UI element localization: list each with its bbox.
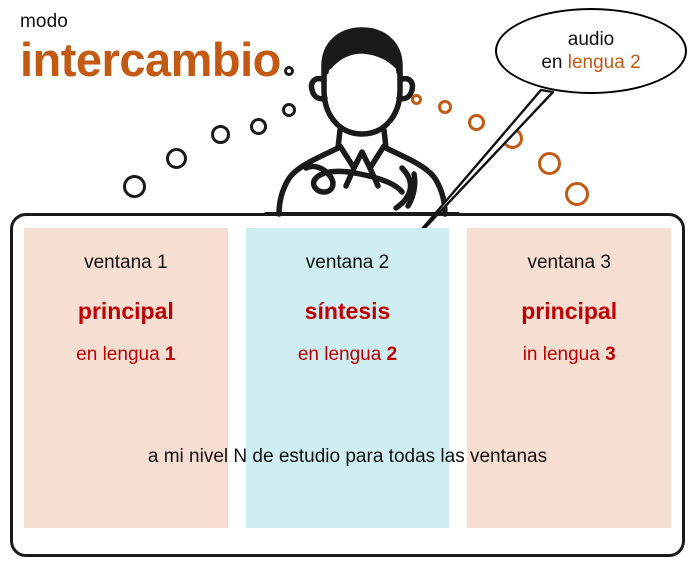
- window-3-language-prefix: in lengua: [523, 344, 605, 365]
- window-1-label: ventana 1: [24, 252, 228, 275]
- diagram-canvas: modo intercambio: [0, 0, 695, 571]
- sound-circle-orange-4: [502, 128, 523, 149]
- sound-circle-orange-5: [538, 152, 561, 175]
- sound-circle-black-1: [123, 175, 146, 198]
- speech-balloon-icon: audio en lengua 2: [495, 8, 687, 94]
- window-2-language: en lengua 2: [246, 344, 450, 367]
- window-2-language-prefix: en lengua: [298, 344, 387, 365]
- window-1-role: principal: [24, 298, 228, 326]
- speech-balloon-line-2: en lengua 2: [541, 52, 640, 74]
- sound-circle-black-3: [211, 125, 230, 144]
- window-3-role: principal: [467, 298, 671, 326]
- window-3-label: ventana 3: [467, 252, 671, 275]
- windows-columns-row: ventana 1 principal en lengua 1 ventana …: [24, 228, 671, 528]
- speech-balloon-line-1: audio: [568, 29, 615, 51]
- sound-circle-orange-3: [468, 114, 485, 131]
- speech-balloon-line-2-prefix: en: [541, 52, 567, 73]
- window-1-language-prefix: en lengua: [76, 344, 165, 365]
- window-1-language: en lengua 1: [24, 344, 228, 367]
- window-2-language-number: 2: [387, 344, 398, 365]
- window-2-role: síntesis: [246, 298, 450, 326]
- window-column-3[interactable]: ventana 3 principal in lengua 3: [467, 228, 671, 528]
- window-2-label: ventana 2: [246, 252, 450, 275]
- window-3-language: in lengua 3: [467, 344, 671, 367]
- window-column-1[interactable]: ventana 1 principal en lengua 1: [24, 228, 228, 528]
- speech-balloon-line-2-highlight: lengua 2: [568, 52, 641, 73]
- window-3-language-number: 3: [605, 344, 616, 365]
- sound-circle-black-2: [166, 148, 187, 169]
- window-1-language-number: 1: [165, 344, 176, 365]
- speech-balloon-text: audio en lengua 2: [495, 8, 687, 94]
- person-crossed-arms-icon: [262, 18, 462, 218]
- window-column-2[interactable]: ventana 2 síntesis en lengua 2: [246, 228, 450, 528]
- sound-circle-orange-6: [565, 182, 589, 206]
